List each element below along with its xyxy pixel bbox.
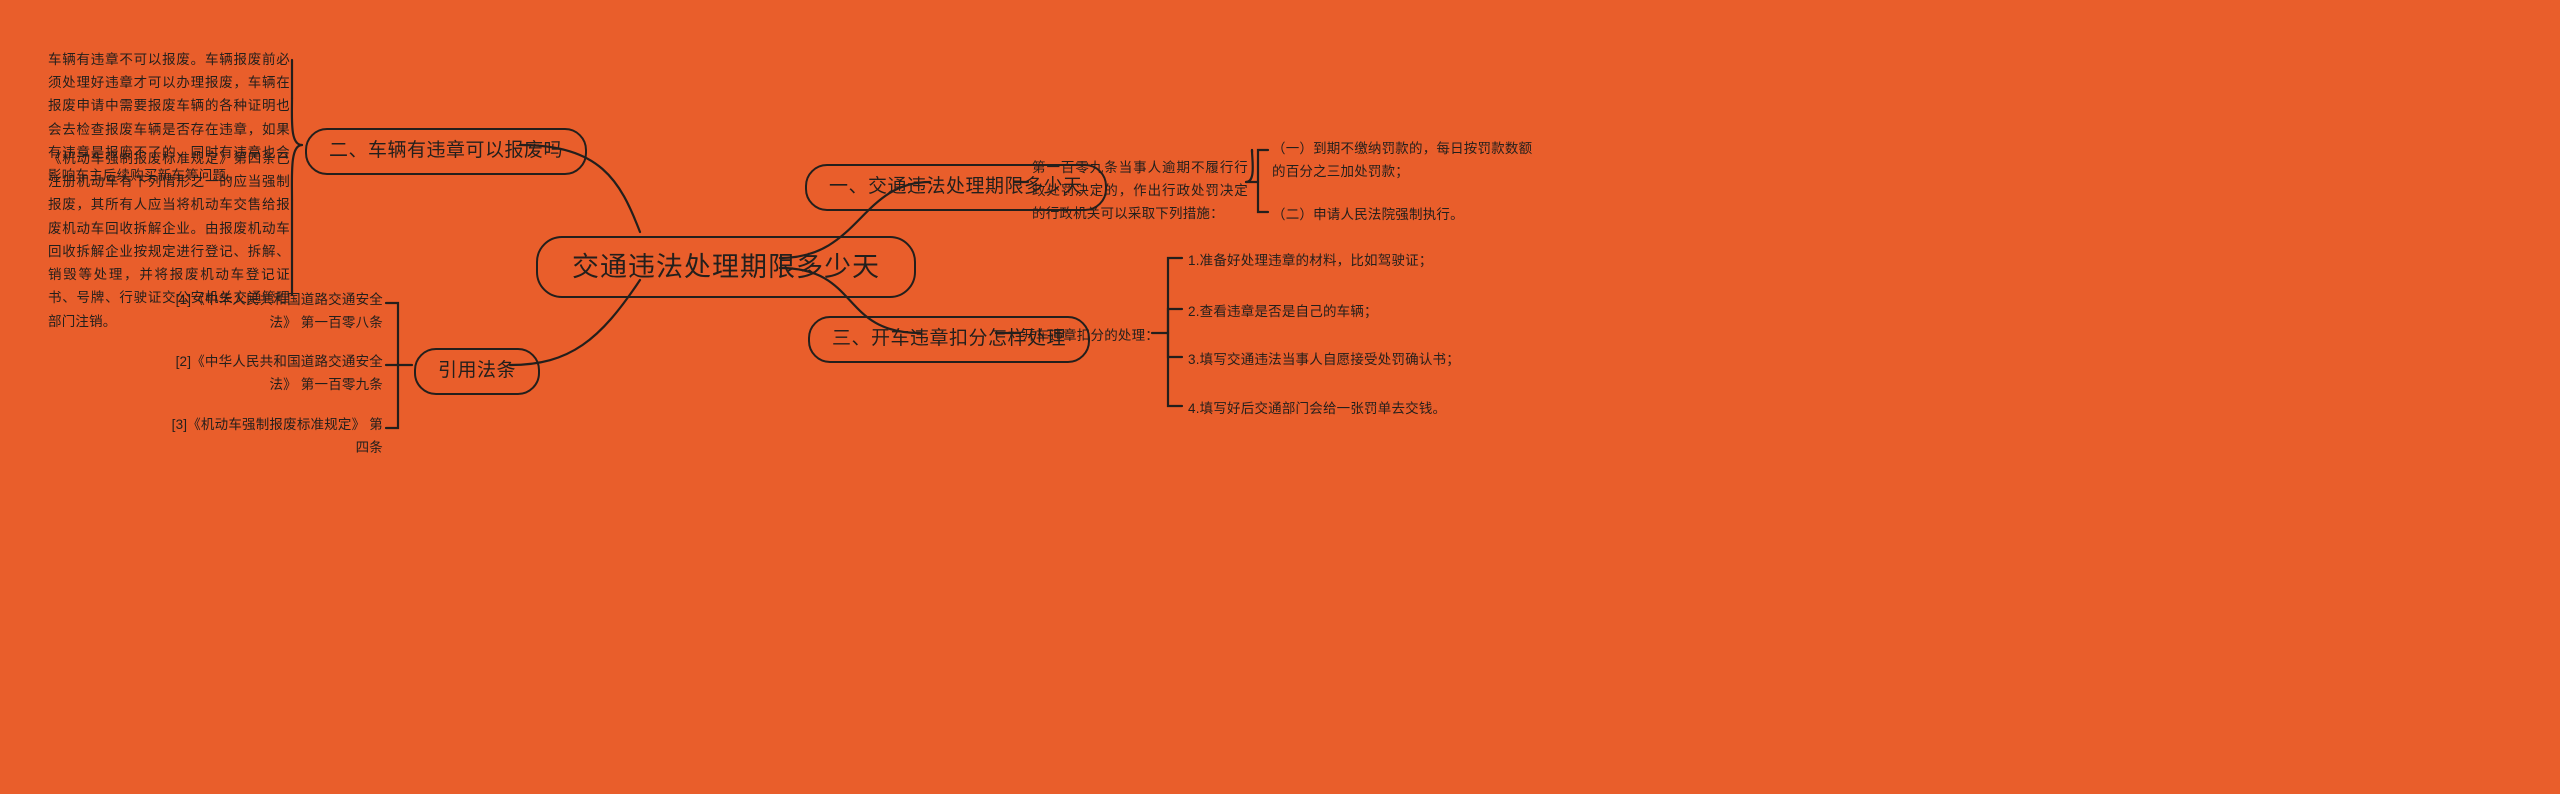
branch1-detail-item-1: （一）到期不缴纳罚款的，每日按罚款数额的百分之三加处罚款； (1272, 137, 1542, 183)
branch-node-4[interactable]: 引用法条 (414, 348, 540, 395)
law-item-3: [3]《机动车强制报废标准规定》 第四条 (158, 413, 383, 459)
branch1-detail-item-2: （二）申请人民法院强制执行。 (1272, 203, 1542, 226)
branch1-detail-text: 第一百零九条当事人逾期不履行行政处罚决定的，作出行政处罚决定的行政机关可以采取下… (1032, 156, 1248, 226)
branch3-detail-item-3: 3.填写交通违法当事人自愿接受处罚确认书； (1188, 349, 1460, 372)
branch-node-4-label: 引用法条 (438, 360, 516, 383)
branch3-detail-label: 开车违章扣分的处理： (1022, 325, 1159, 348)
root-node-label: 交通违法处理期限多少天 (572, 251, 880, 283)
branch-node-2-label: 二、车辆有违章可以报废吗 (329, 140, 563, 163)
law-item-2: [2]《中华人民共和国道路交通安全法》 第一百零九条 (158, 350, 383, 396)
branch3-detail-item-1: 1.准备好处理违章的材料，比如驾驶证； (1188, 250, 1433, 273)
connector-lines (0, 0, 2560, 794)
branch-node-2[interactable]: 二、车辆有违章可以报废吗 (305, 128, 587, 175)
law-item-1: [1]《中华人民共和国道路交通安全法》 第一百零八条 (158, 288, 383, 334)
root-node[interactable]: 交通违法处理期限多少天 (536, 236, 916, 298)
branch3-detail-item-2: 2.查看违章是否是自己的车辆； (1188, 301, 1378, 324)
branch3-detail-item-4: 4.填写好后交通部门会给一张罚单去交钱。 (1188, 398, 1446, 421)
mindmap-canvas: 交通违法处理期限多少天 一、交通违法处理期限多少天 二、车辆有违章可以报废吗 三… (0, 0, 2560, 794)
